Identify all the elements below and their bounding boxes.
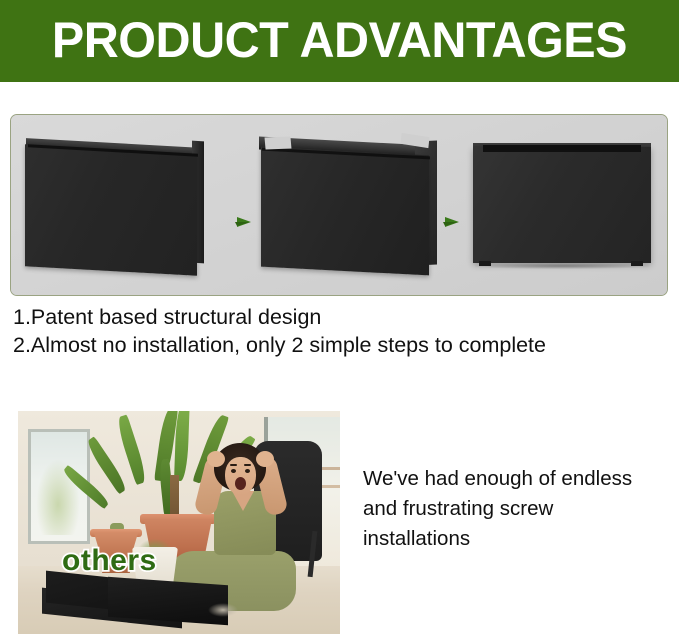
assembled-planter-shadow <box>475 263 649 269</box>
arrow-right-icon <box>217 214 251 230</box>
assembly-steps-diagram <box>10 114 668 296</box>
list-item: 1.Patent based structural design <box>13 303 673 331</box>
others-overlay-label: others <box>62 546 157 576</box>
assembled-planter-opening <box>483 145 641 152</box>
unfolded-planter-left-notch <box>265 137 292 150</box>
arrow-right-icon <box>425 214 459 230</box>
woman-right-eye <box>245 469 250 473</box>
step-1-folded-flat-planter <box>25 135 205 275</box>
scattered-screws <box>208 603 238 617</box>
woman-open-mouth <box>235 477 246 490</box>
step-2-partially-unfolded-planter <box>259 133 437 275</box>
frustrated-woman-photo <box>18 411 340 634</box>
woman-left-hand <box>207 451 225 467</box>
page-title: PRODUCT ADVANTAGES <box>52 15 627 65</box>
advantages-list: 1.Patent based structural design 2.Almos… <box>13 303 673 359</box>
woman-left-eye <box>231 469 236 473</box>
product-advantages-banner: PRODUCT ADVANTAGES <box>0 0 679 82</box>
woman-left-eyebrow <box>230 464 237 466</box>
folded-planter-front-face <box>25 144 197 276</box>
woman-right-eyebrow <box>244 464 251 466</box>
disassembled-panel <box>108 577 228 625</box>
unfolded-planter-front-face <box>261 147 429 276</box>
assembled-planter-body <box>473 147 651 263</box>
list-item: 2.Almost no installation, only 2 simple … <box>13 331 673 359</box>
step-3-assembled-planter <box>469 137 655 273</box>
woman-right-hand <box>256 451 274 467</box>
comparison-caption: We've had enough of endless and frustrat… <box>363 464 635 554</box>
